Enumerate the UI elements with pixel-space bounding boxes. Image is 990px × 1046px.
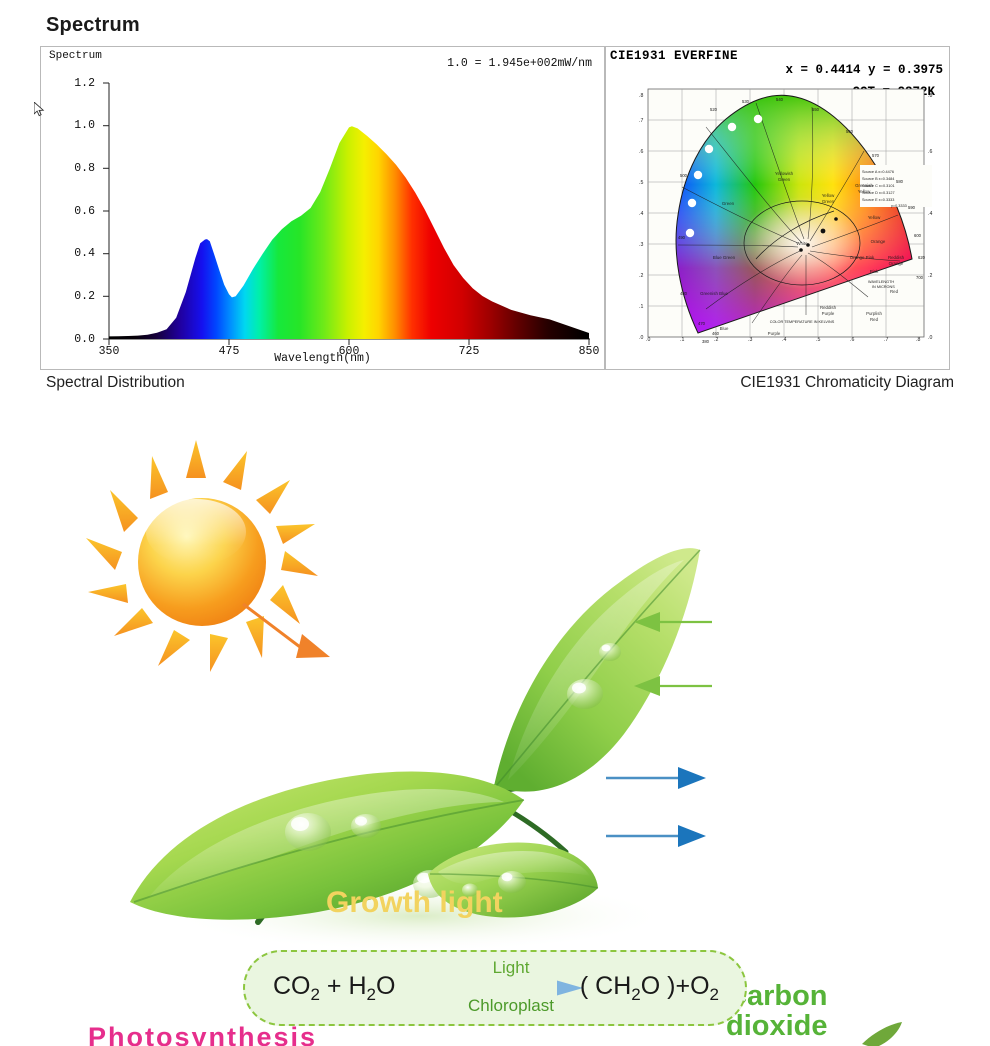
spectral-distribution-caption: Spectral Distribution [46,374,185,392]
cie-measured-point [821,229,826,234]
svg-text:520: 520 [710,107,718,112]
svg-text:.8: .8 [916,337,920,343]
svg-text:620: 620 [918,255,926,260]
reaction-arrow-icon [445,980,585,996]
svg-text:Purplish: Purplish [866,311,882,316]
svg-text:570: 570 [872,153,880,158]
svg-text:.8: .8 [639,93,643,99]
cie-diagram-caption: CIE1931 Chromaticity Diagram [740,374,954,392]
equation-light-label: Light [441,958,581,978]
svg-text:480: 480 [680,291,688,296]
spectrum-ytick-1: 1.0 [61,119,95,132]
svg-text:540: 540 [776,97,784,102]
photosynthesis-equation-box: CO2 + H2O Light Chloroplast ( CH2O )+O2 [243,950,747,1026]
svg-text:Pink: Pink [870,269,879,274]
svg-text:.1: .1 [639,304,643,310]
svg-text:.3: .3 [748,337,752,343]
page-title: Spectrum [46,14,140,37]
svg-text:580: 580 [896,179,904,184]
svg-text:Green: Green [722,201,735,206]
spectrum-ytick-5: 0.2 [61,290,95,303]
svg-text:.4: .4 [928,211,932,217]
svg-text:.2: .2 [928,273,932,279]
svg-text:.1: .1 [680,337,684,343]
svg-text:.0: .0 [646,337,650,343]
svg-text:Purple: Purple [822,311,835,316]
svg-text:.8: .8 [928,93,932,99]
svg-text:.6: .6 [639,149,643,155]
svg-text:Source B x=0.3484: Source B x=0.3484 [862,177,894,181]
svg-text:Orange: Orange [871,239,886,244]
equation-reactants: CO2 + H2O [273,972,395,1005]
svg-text:COLOR TEMPERATURE IN KELVINS: COLOR TEMPERATURE IN KELVINS [770,320,835,324]
svg-text:Orange Pink: Orange Pink [850,255,875,260]
mouse-pointer-icon [34,102,45,117]
equation-products: ( CH2O )+O2 [580,972,719,1005]
svg-text:470: 470 [698,321,706,326]
spectrum-ytick-4: 0.4 [61,247,95,260]
arrow-right-icon [606,767,706,789]
svg-text:Green: Green [822,199,835,204]
svg-text:White: White [796,241,808,246]
sun-icon [86,440,318,672]
svg-text:590: 590 [908,205,916,210]
svg-text:700: 700 [916,275,924,280]
spectrum-chart-svg [41,47,605,370]
svg-text:Source A x=0.4476: Source A x=0.4476 [862,170,894,174]
svg-text:.7: .7 [884,337,888,343]
growth-light-label: Growth light [326,886,503,920]
svg-text:530: 530 [742,99,750,104]
svg-text:Red: Red [870,317,879,322]
svg-text:Yellow: Yellow [822,193,835,198]
svg-text:Yellow: Yellow [868,215,881,220]
svg-text:.0: .0 [928,335,932,341]
svg-text:Orange: Orange [889,261,904,266]
svg-text:.5: .5 [816,337,820,343]
svg-text:.4: .4 [639,211,643,217]
svg-text:560: 560 [846,129,854,134]
svg-text:.2: .2 [639,273,643,279]
spectrum-xaxis-label: Wavelength(nm) [41,352,604,365]
svg-text:IN MICRONS: IN MICRONS [872,285,895,289]
svg-text:.6: .6 [850,337,854,343]
svg-text:.2: .2 [714,337,718,343]
spectrum-ytick-2: 0.8 [61,162,95,175]
svg-text:Reddish: Reddish [820,305,837,310]
arrow-right-icon [606,825,706,847]
svg-text:Source E x=0.3333: Source E x=0.3333 [862,198,894,202]
svg-text:Red: Red [890,289,899,294]
svg-text:.6: .6 [928,149,932,155]
svg-text:.3: .3 [639,242,643,248]
leaf-icon [862,1022,902,1046]
svg-text:Purple: Purple [768,331,781,336]
equation-chloroplast-label: Chloroplast [425,996,597,1016]
svg-text:Blue Green: Blue Green [713,255,736,260]
svg-text:y=0.3333: y=0.3333 [891,204,907,208]
charts-row: Spectrum 1.0 = 1.945e+002mW/nm [0,46,990,396]
svg-text:500: 500 [680,173,688,178]
svg-text:600: 600 [914,233,922,238]
svg-text:.0: .0 [639,335,643,341]
svg-text:460: 460 [712,331,720,336]
spectral-distribution-panel: Spectrum 1.0 = 1.945e+002mW/nm [40,46,605,370]
svg-text:550: 550 [812,107,820,112]
svg-text:490: 490 [678,235,686,240]
cie-diagram-svg: Source A x=0.4476 Source B x=0.3484 Sour… [606,47,950,370]
svg-text:Blue: Blue [720,326,729,331]
spectrum-ytick-3: 0.6 [61,205,95,218]
leaf-icon [494,548,700,792]
svg-text:WAVELENGTH: WAVELENGTH [868,280,894,284]
svg-text:Green: Green [778,177,791,182]
svg-text:Greenish Blue: Greenish Blue [700,291,728,296]
svg-text:.5: .5 [639,180,643,186]
svg-text:.7: .7 [639,118,643,124]
svg-text:380: 380 [702,339,710,344]
svg-text:Reddish: Reddish [888,255,905,260]
svg-text:Yellow: Yellow [858,189,871,194]
svg-text:Greenish: Greenish [855,183,873,188]
spectrum-ytick-0: 1.2 [61,77,95,90]
svg-text:Yellowish: Yellowish [775,171,794,176]
cie-chromaticity-panel: CIE1931 EVERFINE x = 0.4414 y = 0.3975 C… [605,46,950,370]
svg-text:.4: .4 [782,337,786,343]
